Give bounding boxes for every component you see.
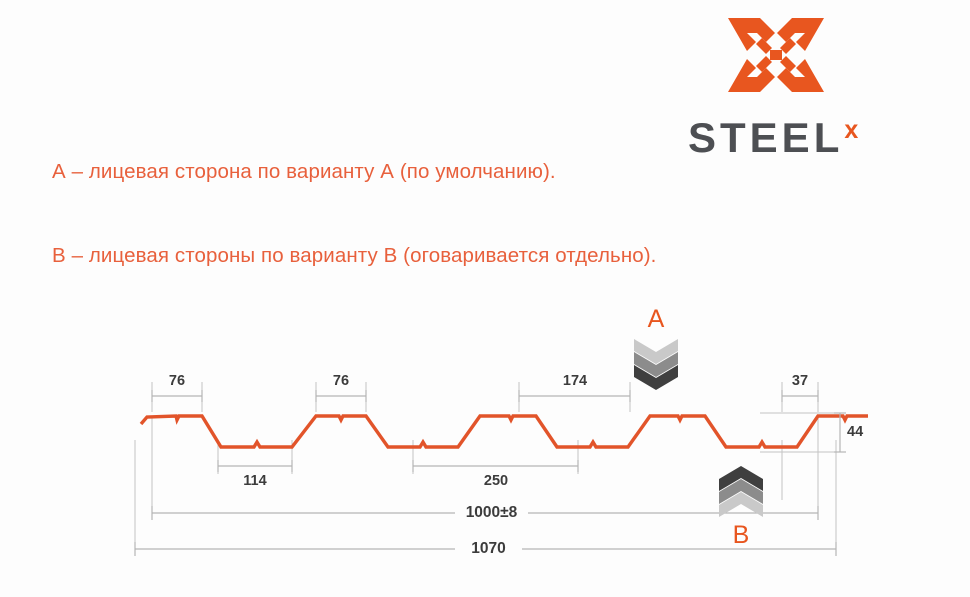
dimension-label-44: 44 — [847, 424, 877, 440]
chevron-up-icon — [717, 466, 765, 518]
dimension-label-250: 250 — [475, 473, 517, 489]
dimension-label-1070: 1070 — [455, 540, 522, 558]
dimension-label-1000: 1000±8 — [455, 504, 528, 522]
dimension-label-174: 174 — [554, 373, 596, 389]
dimension-label-37: 37 — [781, 373, 819, 389]
dimension-label-76-b: 76 — [321, 373, 361, 389]
sheet-profile-polyline — [141, 416, 868, 447]
view-marker-b-label: B — [721, 521, 761, 550]
view-marker-a-label: A — [636, 305, 676, 334]
dimension-label-76-a: 76 — [157, 373, 197, 389]
dimension-label-114: 114 — [235, 473, 275, 489]
chevron-down-icon — [632, 338, 680, 390]
